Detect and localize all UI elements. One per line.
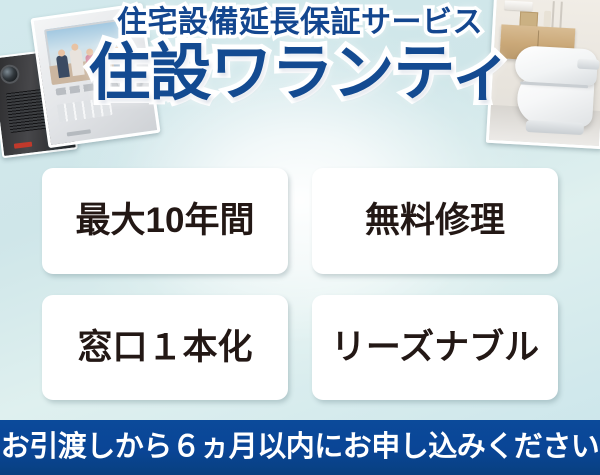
footer-bar: お引渡しから６ヵ月以内にお申し込みください — [0, 420, 600, 475]
promo-banner: 住宅設備延長保証サービス 住設ワランティ 最大10年間 無料修理 窓口１本化 リ… — [0, 0, 600, 475]
feature-label: 窓口１本化 — [77, 330, 252, 365]
monitor-brand-mark — [67, 129, 91, 136]
feature-label: リーズナブル — [331, 330, 539, 365]
feature-box-reasonable: リーズナブル — [312, 295, 558, 401]
feature-box-free-repair: 無料修理 — [312, 168, 558, 274]
call-button-icon — [14, 142, 32, 149]
feature-label: 最大10年間 — [76, 203, 255, 238]
feature-label: 無料修理 — [365, 203, 505, 238]
footer-deadline-text: お引渡しから６ヵ月以内にお申し込みください — [1, 433, 600, 462]
service-subtitle: 住宅設備延長保証サービス — [0, 8, 600, 38]
feature-box-grid: 最大10年間 無料修理 窓口１本化 リーズナブル — [42, 168, 558, 400]
feature-box-single-contact: 窓口１本化 — [42, 295, 288, 401]
service-title: 住設ワランティ — [0, 42, 600, 105]
headline-block: 住宅設備延長保証サービス 住設ワランティ — [0, 8, 600, 105]
feature-box-max-years: 最大10年間 — [42, 168, 288, 274]
